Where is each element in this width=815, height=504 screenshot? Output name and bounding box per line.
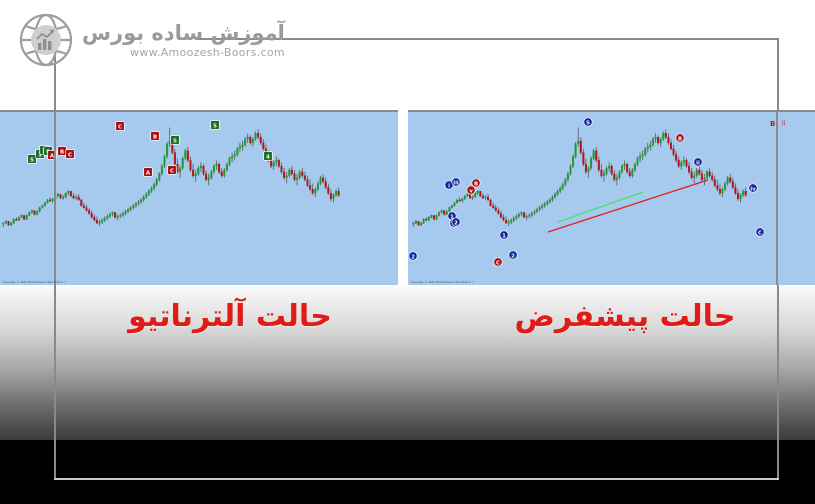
svg-text:5: 5 <box>213 123 217 129</box>
candlestick-chart-right: 211iiiiBv2C125BiiivC <box>408 110 815 285</box>
caption-default: حالت پیشفرض <box>490 299 760 334</box>
caption-alternative: حالت آلترناتیو <box>95 299 365 334</box>
brand-logo: آموزش ساده بورس www.Amoozesh-Boors.com <box>18 12 285 68</box>
svg-text:C: C <box>758 230 762 236</box>
chart-copyright-left: Copyright © 2020 Elliott Wave Internatio… <box>2 280 66 284</box>
svg-text:5: 5 <box>586 120 590 126</box>
candlestick-chart-left: 5135ABCCBA5C54 <box>0 110 398 285</box>
globe-chart-icon <box>18 12 74 68</box>
support-line <box>548 180 708 232</box>
svg-text:ii: ii <box>696 160 700 166</box>
chart-panel-default[interactable]: 211iiiiBv2C125BiiivC Copyright © 2020 El… <box>408 110 815 285</box>
svg-text:iii: iii <box>453 180 459 186</box>
svg-text:C: C <box>118 124 122 130</box>
footer-black-background <box>0 440 815 504</box>
corner-wave-label-b: B <box>770 120 775 128</box>
svg-text:B: B <box>60 149 64 155</box>
svg-text:2: 2 <box>511 253 515 259</box>
svg-text:5: 5 <box>30 157 34 163</box>
corner-wave-label-sub: ii <box>782 120 785 127</box>
chart-copyright-right: Copyright © 2020 Elliott Wave Internatio… <box>410 280 474 284</box>
chart-panel-alternative[interactable]: 5135ABCCBA5C54 Copyright © 2020 Elliott … <box>0 110 398 285</box>
frame-line-bottom <box>54 478 779 480</box>
svg-text:2: 2 <box>411 254 415 260</box>
svg-text:iv: iv <box>750 186 756 192</box>
svg-text:2: 2 <box>454 220 458 226</box>
brand-url: www.Amoozesh-Boors.com <box>130 47 285 58</box>
svg-text:i: i <box>448 183 450 189</box>
brand-text: آموزش ساده بورس www.Amoozesh-Boors.com <box>82 23 285 58</box>
accel-curve <box>558 192 643 222</box>
svg-text:4: 4 <box>266 154 270 160</box>
svg-text:C: C <box>68 152 72 158</box>
svg-text:1: 1 <box>502 233 506 239</box>
svg-text:C: C <box>496 260 500 266</box>
brand-name-fa: آموزش ساده بورس <box>82 23 285 44</box>
svg-text:B: B <box>474 181 478 187</box>
svg-text:5: 5 <box>173 138 177 144</box>
svg-text:C: C <box>170 168 174 174</box>
svg-text:B: B <box>153 134 157 140</box>
screenshot-root: آموزش ساده بورس www.Amoozesh-Boors.com 5… <box>0 0 815 504</box>
svg-text:v: v <box>469 188 473 194</box>
svg-text:B: B <box>678 136 682 142</box>
